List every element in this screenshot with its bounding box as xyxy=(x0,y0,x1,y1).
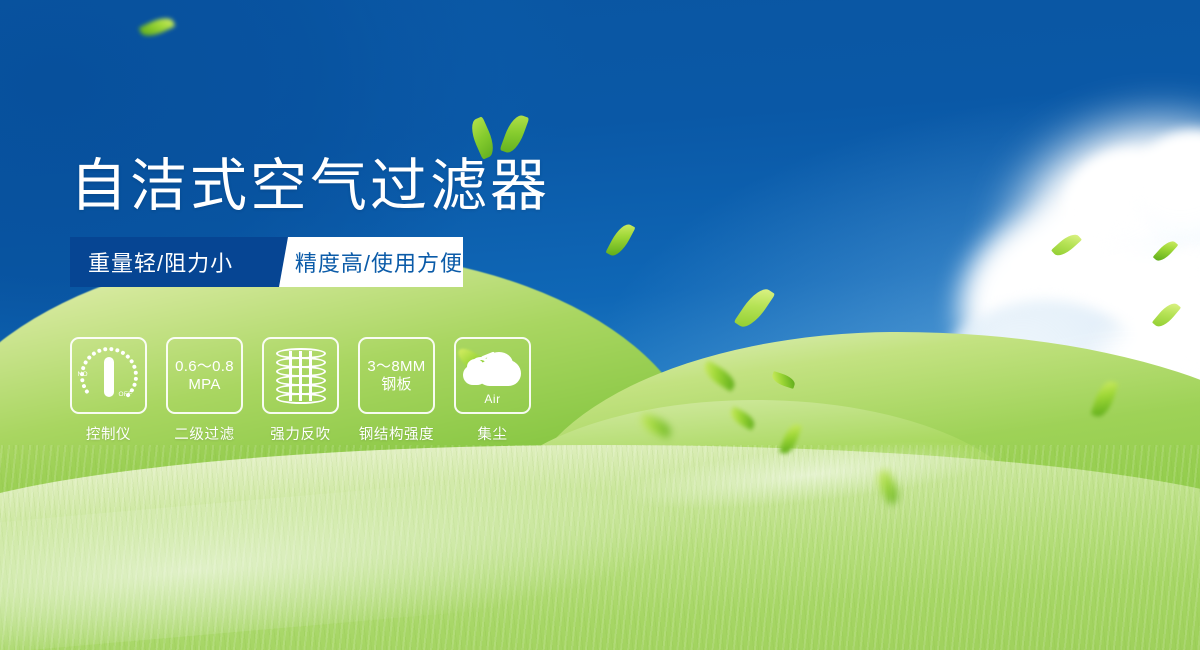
feature-caption: 强力反吹 xyxy=(262,423,339,444)
feature-caption: 二级过滤 xyxy=(166,423,243,444)
feature-icon-box: 3～8MM 钢板 xyxy=(358,337,435,414)
feature-list: NO OFF 控制仪 0.6～0.8 MPA 二级过滤 xyxy=(70,337,531,444)
feature-icon-box: NO OFF xyxy=(70,337,147,414)
feature-caption: 集尘 xyxy=(454,423,531,444)
feature-icon-box: 0.6～0.8 MPA xyxy=(166,337,243,414)
feature-icon-box xyxy=(262,337,339,414)
subtitle-left-panel: 重量轻/阻力小 xyxy=(70,237,271,287)
pressure-text-icon: 0.6～0.8 MPA xyxy=(175,358,234,394)
wind-swirl-icon xyxy=(470,357,491,378)
subtitle-right-text: 精度高/使用方便 xyxy=(295,246,463,278)
dial-label-off: OFF xyxy=(119,391,133,398)
subtitle-right-panel: 精度高/使用方便 xyxy=(271,237,463,287)
product-banner: 自洁式空气过滤器 重量轻/阻力小 精度高/使用方便 xyxy=(0,0,1200,650)
dial-gauge-icon: NO OFF xyxy=(78,345,140,407)
subtitle-bar: 重量轻/阻力小 精度高/使用方便 xyxy=(70,237,463,287)
feature-icon-box: Air xyxy=(454,337,531,414)
feature-item-backblow[interactable]: 强力反吹 xyxy=(262,337,339,444)
dial-label-on: NO xyxy=(78,371,88,378)
air-label: Air xyxy=(463,392,523,406)
feature-caption: 控制仪 xyxy=(70,423,147,444)
feature-item-steel-strength[interactable]: 3～8MM 钢板 钢结构强度 xyxy=(358,337,435,444)
coil-filter-icon xyxy=(276,348,326,404)
steel-plate-text-icon: 3～8MM 钢板 xyxy=(367,358,425,394)
feature-item-controller[interactable]: NO OFF 控制仪 xyxy=(70,337,147,444)
page-title: 自洁式空气过滤器 xyxy=(70,140,550,222)
grass-field xyxy=(0,410,1200,650)
feature-caption: 钢结构强度 xyxy=(358,423,435,444)
subtitle-left-text: 重量轻/阻力小 xyxy=(88,246,233,278)
feature-item-dust-collection[interactable]: Air 集尘 xyxy=(454,337,531,444)
feature-item-secondary-filter[interactable]: 0.6～0.8 MPA 二级过滤 xyxy=(166,337,243,444)
air-cloud-icon: Air xyxy=(463,348,523,404)
